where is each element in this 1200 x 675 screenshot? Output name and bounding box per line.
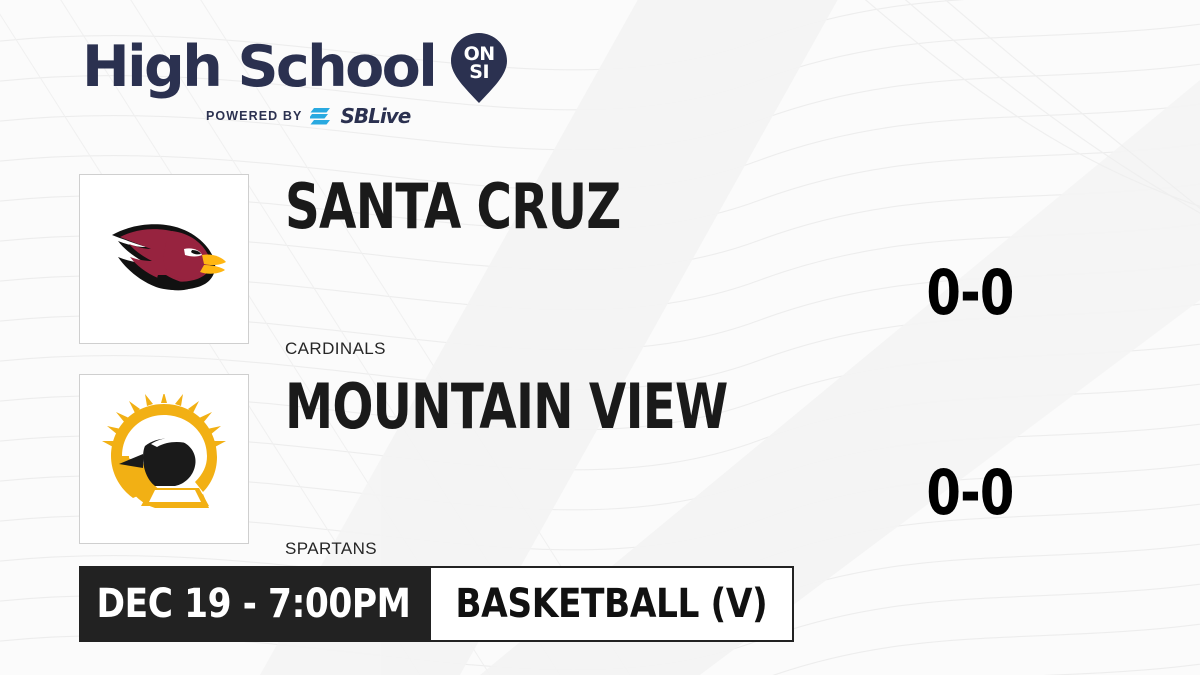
cardinal-head-logo-icon (94, 199, 234, 319)
team-name-1: SANTA CRUZ (285, 176, 620, 238)
team-name-2: MOUNTAIN VIEW (285, 376, 728, 438)
spartan-helmet-logo-icon (99, 394, 229, 524)
team-logo-box-2 (79, 374, 249, 544)
team-logo-box-1 (79, 174, 249, 344)
team-mascot-2: SPARTANS (285, 539, 377, 559)
sblive-s-mark-icon (310, 107, 332, 126)
team-record-1: 0-0 (906, 262, 1034, 324)
powered-by-label: POWERED BY (206, 109, 302, 123)
team-record-2: 0-0 (906, 462, 1034, 524)
game-info-bar: DEC 19 - 7:00PM BASKETBALL (V) (79, 566, 794, 642)
sblive-wordmark: SBLive (340, 106, 410, 126)
on-si-pin-label: ON SI (449, 45, 509, 81)
matchup-graphic: High School ON SI POWERED BY SBLive (0, 0, 1200, 675)
brand-title-row: High School ON SI (82, 34, 522, 100)
team-mascot-1: CARDINALS (285, 339, 386, 359)
pin-line-si: SI (449, 63, 509, 81)
game-datetime-segment: DEC 19 - 7:00PM (79, 566, 429, 642)
game-sport-label: BASKETBALL (V) (456, 584, 768, 624)
powered-by-row: POWERED BY SBLive (82, 106, 522, 126)
brand-title: High School (82, 36, 435, 98)
on-si-pin-icon: ON SI (449, 31, 509, 105)
game-datetime-label: DEC 19 - 7:00PM (97, 584, 411, 624)
brand-logo: High School ON SI POWERED BY SBLive (82, 34, 522, 144)
game-sport-segment: BASKETBALL (V) (429, 566, 794, 642)
